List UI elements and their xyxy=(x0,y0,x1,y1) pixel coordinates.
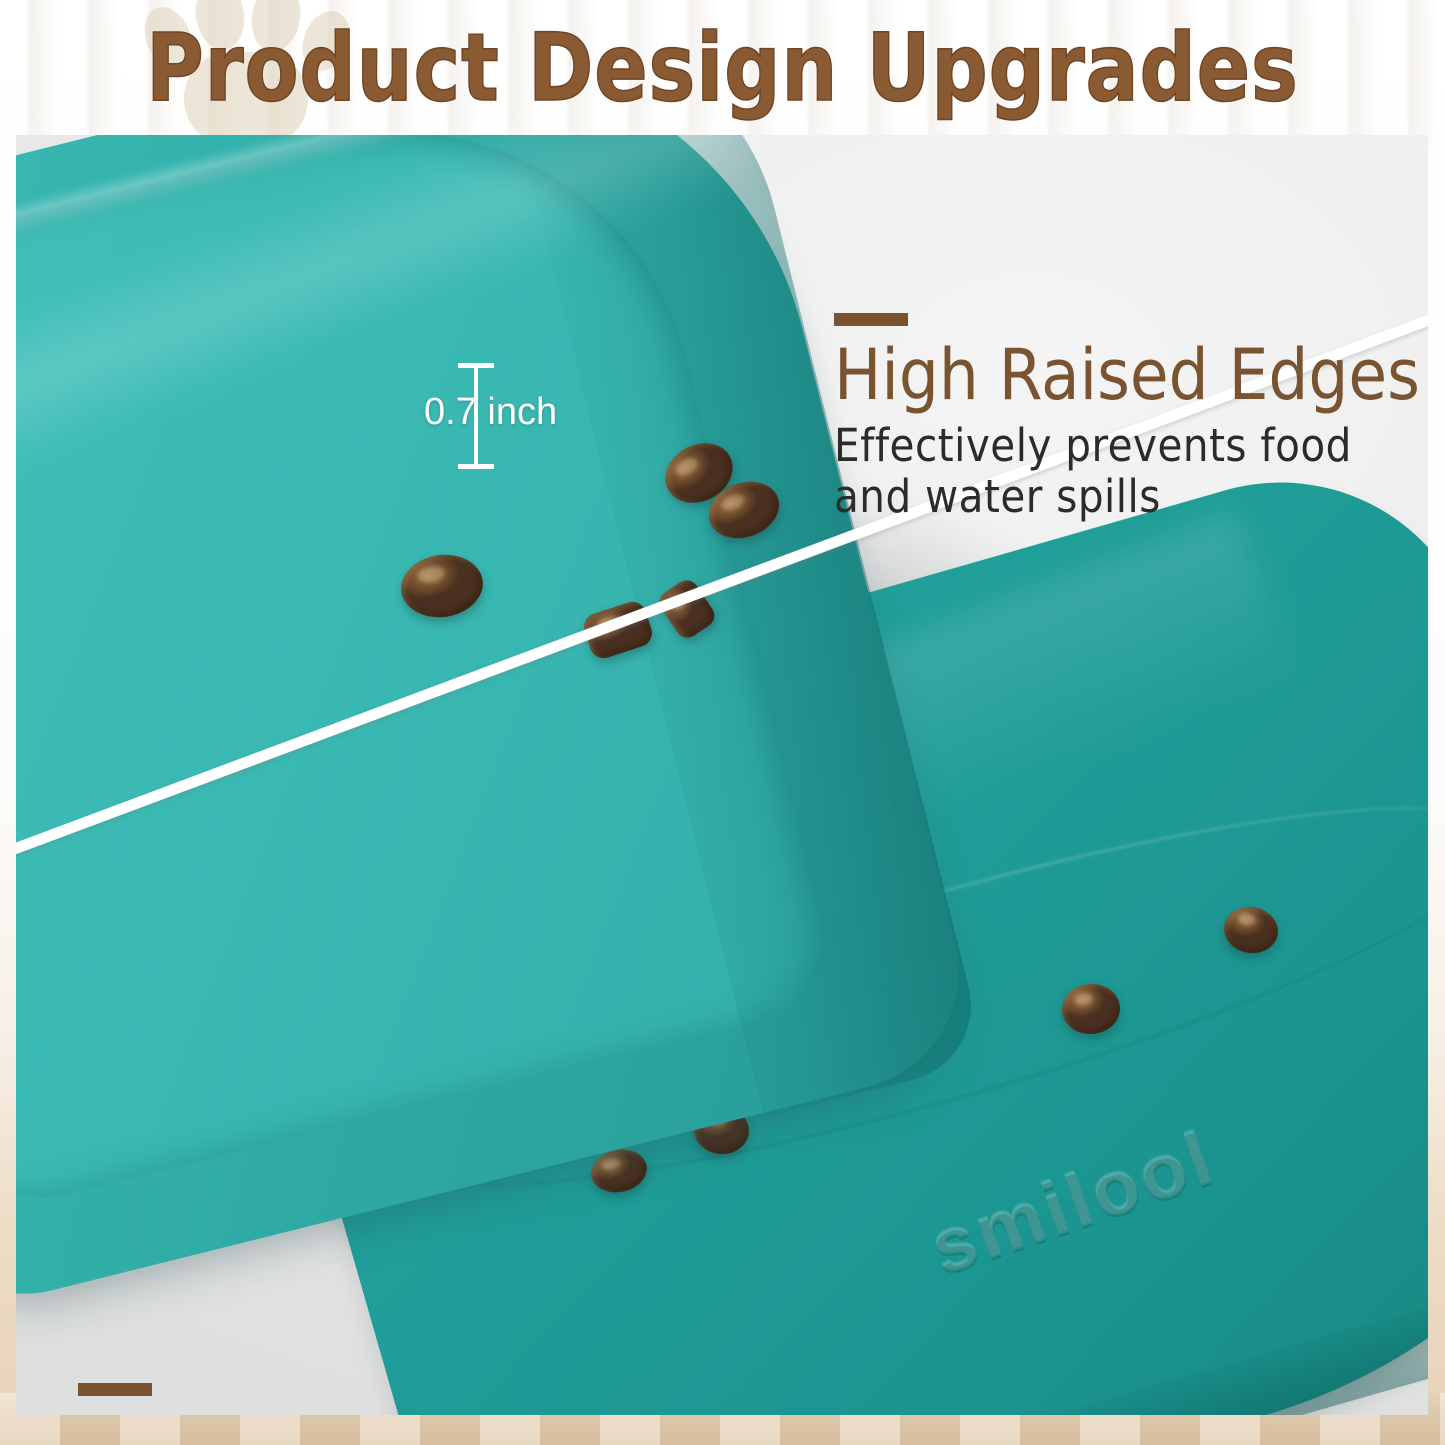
dimension-callout: 0.7 inch xyxy=(434,357,584,477)
feature-heading: High Raised Edges xyxy=(834,340,1420,411)
page-title: Product Design Upgrades xyxy=(51,14,1395,123)
dimension-bottom-bar xyxy=(458,464,494,469)
header: Product Design Upgrades xyxy=(0,0,1445,132)
feature-rule xyxy=(834,313,908,326)
feature-description: Effectively prevents food and water spil… xyxy=(834,421,1420,522)
feature-rule xyxy=(78,1383,152,1396)
dimension-label: 0.7 inch xyxy=(424,391,604,434)
feature-heading: Keeping the floor clean xyxy=(78,1410,1132,1415)
feature-high-raised-edges: High Raised Edges Effectively prevents f… xyxy=(834,313,1420,522)
feature-keeping-floor-clean: Keeping the floor clean Minimizes time s… xyxy=(78,1383,1132,1415)
product-photo-panel: smilool 0.7 inch xyxy=(16,135,1428,1415)
product-feature-poster: Product Design Upgrades smilool xyxy=(0,0,1445,1445)
